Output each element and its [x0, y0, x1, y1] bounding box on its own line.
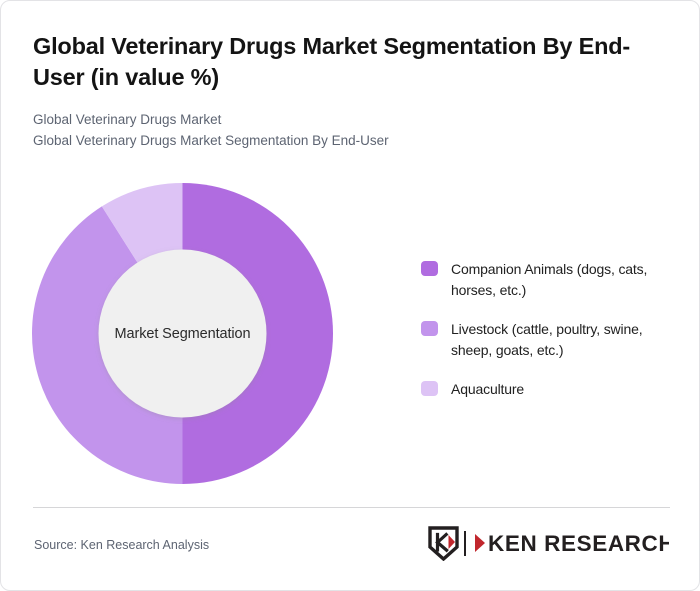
- logo-wordmark-svg: KEN RESEARCH: [473, 530, 669, 556]
- page-title: Global Veterinary Drugs Market Segmentat…: [33, 31, 675, 93]
- source-note: Source: Ken Research Analysis: [34, 538, 209, 552]
- legend-label-companion-animals: Companion Animals (dogs, cats, horses, e…: [451, 259, 676, 300]
- footer-divider: [33, 507, 670, 508]
- legend-item-companion-animals[interactable]: Companion Animals (dogs, cats, horses, e…: [421, 259, 676, 300]
- legend-label-livestock: Livestock (cattle, poultry, swine, sheep…: [451, 319, 676, 360]
- legend-swatch-companion-animals: [421, 261, 438, 276]
- donut-chart-svg: [32, 183, 333, 484]
- subtitle-line-1: Global Veterinary Drugs Market: [33, 109, 673, 130]
- legend-swatch-livestock: [421, 321, 438, 336]
- ken-shield-icon: [428, 526, 459, 561]
- chart-legend: Companion Animals (dogs, cats, horses, e…: [421, 259, 676, 419]
- legend-swatch-aquaculture: [421, 381, 438, 396]
- logo-divider: [464, 531, 466, 556]
- breadcrumb: Global Veterinary Drugs Market Global Ve…: [33, 109, 673, 152]
- donut-hole: [99, 250, 267, 418]
- chart-card: Global Veterinary Drugs Market Segmentat…: [0, 0, 700, 591]
- chart-header: Global Veterinary Drugs Market Segmentat…: [33, 31, 673, 152]
- logo-wordmark: KEN RESEARCH: [473, 530, 669, 556]
- legend-item-livestock[interactable]: Livestock (cattle, poultry, swine, sheep…: [421, 319, 676, 360]
- donut-chart: Market Segmentation: [32, 183, 333, 484]
- svg-text:KEN RESEARCH: KEN RESEARCH: [488, 531, 669, 556]
- legend-label-aquaculture: Aquaculture: [451, 379, 524, 400]
- subtitle-line-2: Global Veterinary Drugs Market Segmentat…: [33, 130, 673, 151]
- ken-research-logo[interactable]: KEN RESEARCH: [428, 523, 669, 563]
- legend-item-aquaculture[interactable]: Aquaculture: [421, 379, 676, 400]
